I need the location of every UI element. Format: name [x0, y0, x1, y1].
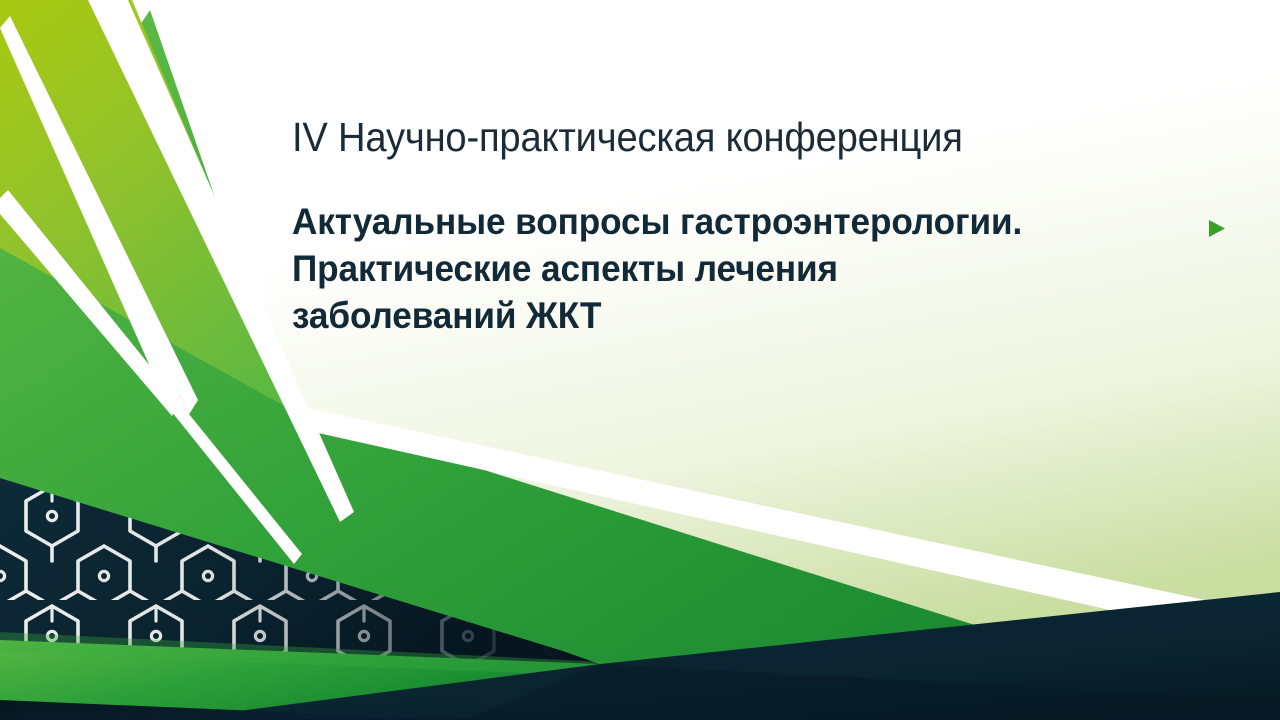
- title-line-2: Практические аспекты лечения: [292, 245, 1147, 292]
- slide-title: Актуальные вопросы гастроэнтерологии. Пр…: [292, 198, 1192, 339]
- title-line-3: заболеваний ЖКТ: [292, 292, 1147, 339]
- play-triangle-icon: [1207, 219, 1227, 238]
- title-line-1: Актуальные вопросы гастроэнтерологии.: [292, 198, 1147, 245]
- slide-content: IV Научно-практическая конференция Актуа…: [0, 0, 1280, 720]
- presentation-slide: IV Научно-практическая конференция Актуа…: [0, 0, 1280, 720]
- slide-eyebrow: IV Научно-практическая конференция: [292, 112, 1055, 162]
